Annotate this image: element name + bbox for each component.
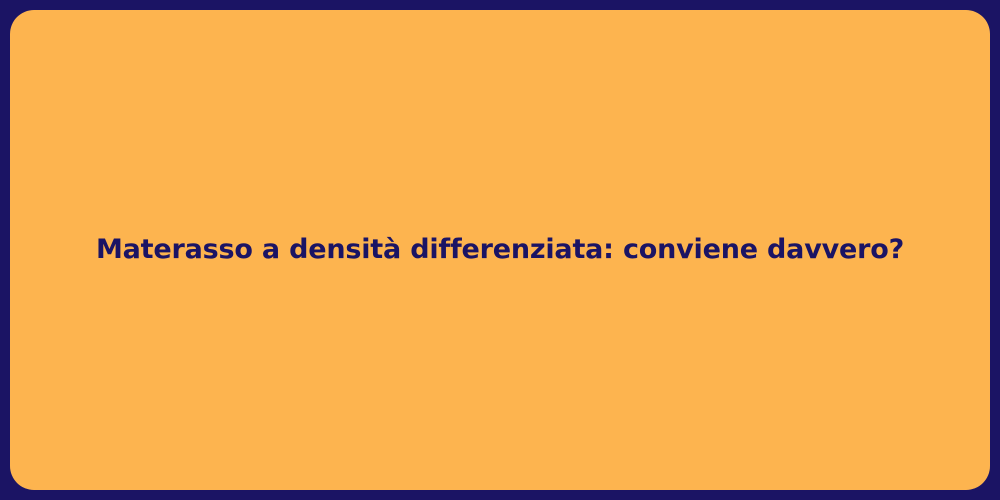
title-banner: Materasso a densità differenziata: convi… xyxy=(10,10,990,490)
page-title: Materasso a densità differenziata: convi… xyxy=(56,232,944,267)
